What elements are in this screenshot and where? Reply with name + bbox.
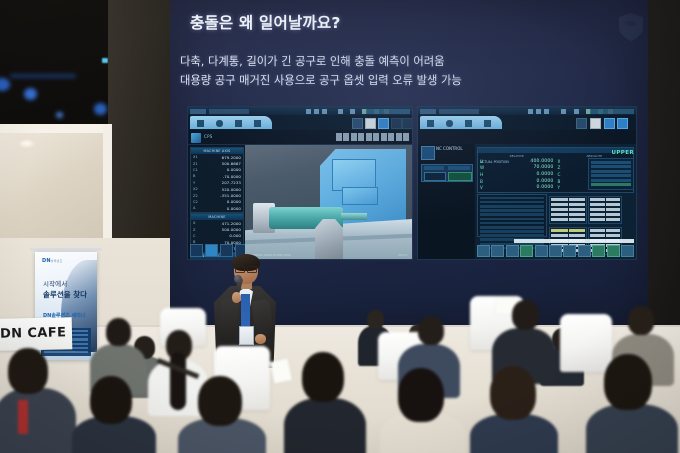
program-info-block (477, 194, 547, 237)
slide-title: 충돌은 왜 일어날까요? (190, 11, 341, 33)
titlebar-clock (366, 109, 410, 114)
softkey-row[interactable] (477, 245, 634, 257)
nc-control-window[interactable]: NC CONTROL ACTUAL POSITION RELATIVE U400… (417, 106, 637, 260)
machine-subhead (342, 187, 378, 205)
banner-line-1: 시작에서 (43, 278, 67, 288)
simulation-viewport[interactable]: TURNING SIMULATION VIEW READY (245, 145, 412, 259)
axis-row: A0.0000 (191, 205, 243, 211)
relative-axis-column: RELATIVE U400.0000 W70.0000 H0.0000 B0.0… (478, 153, 556, 192)
shield-logo-icon (618, 12, 644, 42)
booth-light-dot (24, 88, 37, 100)
softkey[interactable] (491, 245, 504, 257)
window-tabrow[interactable] (418, 115, 636, 130)
nc-logo-icon (421, 146, 435, 160)
axis-row: B0.0000 (480, 178, 554, 185)
mode-label-upper: UPPER (611, 150, 634, 156)
settings-button[interactable] (617, 118, 628, 129)
nc-sidebar: NC CONTROL (418, 144, 474, 259)
slide-body: 다축, 다계통, 길이가 긴 공구로 인해 충돌 예측이 어려움 대용량 공구 … (180, 53, 462, 90)
axis-row: H0.0000 (480, 171, 554, 178)
network-button[interactable] (378, 118, 389, 129)
audience-person (0, 348, 76, 453)
status-side-column (588, 158, 634, 190)
banner-brand: DN솔루션즈 (42, 258, 63, 264)
softkey[interactable] (549, 245, 562, 257)
axis-row: U400.0000 (480, 158, 554, 165)
microphone-head-icon (234, 275, 242, 283)
softkey[interactable] (506, 245, 519, 257)
view-button-1[interactable] (190, 244, 203, 257)
network-button[interactable] (604, 118, 615, 129)
window-subheader: CPS (188, 130, 412, 145)
tab-nc-operation[interactable] (420, 116, 502, 129)
toolbar-button[interactable] (352, 118, 363, 129)
audience-person (284, 352, 366, 453)
titlebar-clock (590, 109, 634, 114)
booth-light-dot (56, 112, 63, 118)
banner-line-2: 솔루션을 찾다 (43, 289, 87, 300)
slide-bullet-2: 대용량 공구 매거진 사용으로 공구 옵셋 입력 오류 발생 가능 (180, 72, 462, 91)
audience-person (470, 366, 558, 453)
presenter-glasses (235, 266, 257, 271)
photo-scene: 충돌은 왜 일어날까요? 다축, 다계통, 길이가 긴 공구로 인해 충돌 예측… (0, 0, 680, 453)
alcove-downlight (18, 139, 35, 148)
banner-top-pole (30, 248, 102, 251)
cnc-simulation-window[interactable]: CPS MACHINE AXIS X1679.2000 Z1500.6667 C… (187, 106, 413, 260)
booth-alcove (0, 130, 110, 255)
tab-simulation[interactable] (190, 116, 272, 129)
audience-person (380, 368, 466, 453)
axis-row: V0.0000 (480, 184, 554, 191)
slide-bullet-1: 다축, 다계통, 길이가 긴 공구로 인해 충돌 예측이 어려움 (180, 53, 462, 72)
offset-table-b[interactable] (588, 196, 622, 224)
cps-logo-icon (191, 133, 201, 143)
tool-shank (341, 213, 367, 220)
softkey[interactable] (621, 245, 634, 257)
toolbar-button[interactable] (576, 118, 587, 129)
nc-status-card (421, 164, 473, 182)
tool-magazine-icons (336, 133, 410, 141)
softkey[interactable] (607, 245, 620, 257)
nc-app-title: NC CONTROL (436, 146, 463, 152)
audience-person (178, 376, 266, 453)
audience-person (72, 376, 156, 453)
audience-front-rows (0, 318, 680, 453)
nc-message-bar (514, 239, 634, 243)
audience-person (586, 354, 678, 453)
nc-main-panel: ACTUAL POSITION RELATIVE U400.0000 W70.0… (475, 144, 636, 259)
toolbar-button[interactable] (391, 118, 402, 129)
alcove-frame-top (0, 124, 112, 133)
right-dark-wall (648, 0, 680, 330)
save-button[interactable] (590, 118, 601, 129)
booth-light-streak (10, 74, 76, 78)
save-button[interactable] (365, 118, 376, 129)
machine-axis-panel: MACHINE AXIS X1679.2000 Z1500.6667 C10.0… (190, 147, 244, 213)
viewport-status: READY (398, 253, 408, 257)
window-tabrow[interactable] (188, 115, 412, 130)
axis-row: W70.0000 (480, 165, 554, 172)
alcove-frame-right (103, 124, 112, 256)
booth-light-dot (94, 103, 107, 115)
toolbar-button[interactable] (402, 118, 413, 129)
cnc-app-title: CPS (204, 134, 213, 139)
softkey[interactable] (563, 245, 576, 257)
softkey[interactable] (535, 245, 548, 257)
softkey[interactable] (592, 245, 605, 257)
offset-table-a[interactable] (549, 196, 587, 224)
booth-pillar (108, 0, 170, 240)
softkey[interactable] (520, 245, 533, 257)
softkey[interactable] (578, 245, 591, 257)
tool-turret (315, 219, 343, 260)
softkey[interactable] (477, 245, 490, 257)
